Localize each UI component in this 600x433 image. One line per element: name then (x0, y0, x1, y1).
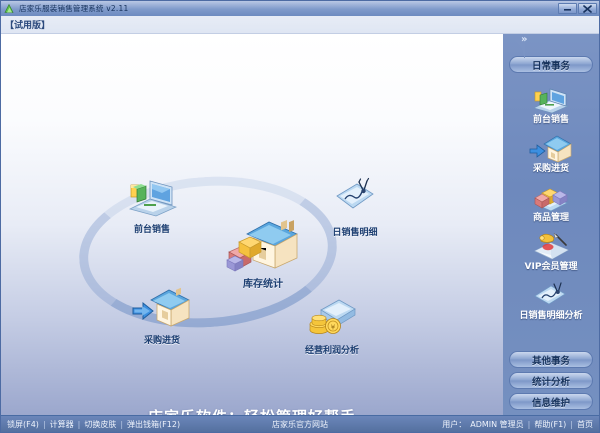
sidebar-item-label: 日销售明细分析 (519, 312, 582, 321)
workflow-node-daily-detail[interactable]: 日销售明细 (309, 174, 401, 239)
trial-version-strip: 【试用版】 (1, 16, 599, 34)
sidebar-item-label: 采购进货 (533, 165, 569, 174)
switch-skin-link[interactable]: 切换皮肤 (84, 419, 116, 430)
profit-coins-icon: ¥ (286, 292, 378, 338)
status-right-links: 用户： ADMIN 管理员 | 帮助(F1) | 首页 (442, 419, 593, 430)
title-bar: 店家乐服装销售管理系统 v2.11 (1, 1, 599, 16)
status-separator: | (570, 420, 573, 429)
pos-terminal-icon (106, 171, 198, 217)
lock-screen-link[interactable]: 锁屏(F4) (7, 419, 39, 430)
workflow-node-label: 前台销售 (134, 225, 170, 235)
sidebar-item-goods[interactable]: 商品管理 (505, 181, 597, 223)
main-stage: 前台销售 日销售明细 (1, 34, 503, 415)
user-name: ADMIN 管理员 (470, 419, 523, 430)
vip-member-icon (530, 230, 572, 262)
svg-text:¥: ¥ (331, 323, 336, 331)
sidebar-panel-maintenance[interactable]: 信息维护 (509, 393, 593, 410)
sidebar-item-vip[interactable]: VIP会员管理 (505, 230, 597, 272)
window-title: 店家乐服装销售管理系统 v2.11 (19, 5, 128, 13)
sidebar-bottom-panels: 其他事务 统计分析 信息维护 (503, 347, 599, 415)
workflow-node-profit[interactable]: ¥ 经营利润分析 (286, 292, 378, 357)
workflow-node-label: 采购进货 (144, 336, 180, 346)
trial-version-label: 【试用版】 (5, 18, 50, 31)
workflow-node-pos-sale[interactable]: 前台销售 (106, 171, 198, 236)
stage-slogan: 店家乐软件：轻松管理好帮手 (1, 406, 503, 415)
purchase-inbound-icon (116, 282, 208, 328)
application-window: 店家乐服装销售管理系统 v2.11 【试用版】 (0, 0, 600, 433)
sidebar-panel-daily-affairs[interactable]: 日常事务 (509, 56, 593, 73)
daily-report-icon (530, 279, 572, 311)
sidebar-panel-other-affairs[interactable]: 其他事务 (509, 351, 593, 368)
purchase-inbound-icon (529, 132, 573, 164)
sidebar-item-list: 前台销售 采购进货 (503, 73, 599, 347)
warehouse-icon (217, 220, 309, 272)
sidebar-item-label: VIP会员管理 (525, 263, 578, 272)
sidebar-panel-statistics[interactable]: 统计分析 (509, 372, 593, 389)
workflow-node-purchase[interactable]: 采购进货 (116, 282, 208, 347)
user-label: 用户： (442, 419, 466, 430)
pos-terminal-icon (530, 83, 572, 115)
workflow-node-label: 日销售明细 (332, 228, 377, 238)
status-bar: 锁屏(F4) | 计算器 | 切换皮肤 | 弹出钱箱(F12) 店家乐官方网站 … (1, 415, 599, 432)
open-cash-drawer-link[interactable]: 弹出钱箱(F12) (127, 419, 180, 430)
goods-box-icon (531, 181, 571, 213)
status-separator: | (43, 420, 46, 429)
workflow-node-stock[interactable]: 库存统计 (217, 220, 309, 291)
help-link[interactable]: 帮助(F1) (534, 419, 566, 430)
minimize-button[interactable] (558, 3, 577, 14)
sidebar-item-purchase[interactable]: 采购进货 (505, 132, 597, 174)
calculator-link[interactable]: 计算器 (50, 419, 74, 430)
status-separator: | (120, 420, 123, 429)
sidebar: » 日常事务 前台销售 (503, 34, 599, 415)
window-controls (558, 3, 597, 14)
close-button[interactable] (578, 3, 597, 14)
official-website-link[interactable]: 店家乐官方网站 (272, 419, 328, 430)
workflow-node-label: 库存统计 (243, 279, 283, 290)
status-left-links: 锁屏(F4) | 计算器 | 切换皮肤 | 弹出钱箱(F12) (7, 419, 180, 430)
body-region: 前台销售 日销售明细 (1, 34, 599, 415)
collapse-sidebar-icon[interactable]: » (521, 35, 526, 45)
home-link[interactable]: 首页 (577, 419, 593, 430)
status-separator: | (78, 420, 81, 429)
status-separator: | (528, 420, 531, 429)
daily-report-icon (309, 174, 401, 220)
sidebar-item-label: 商品管理 (533, 214, 569, 223)
sidebar-item-daily-detail[interactable]: 日销售明细分析 (505, 279, 597, 321)
sidebar-item-pos-sale[interactable]: 前台销售 (505, 83, 597, 125)
workflow-node-label: 经营利润分析 (305, 346, 359, 356)
app-logo-icon (4, 3, 15, 14)
sidebar-item-label: 前台销售 (533, 116, 569, 125)
